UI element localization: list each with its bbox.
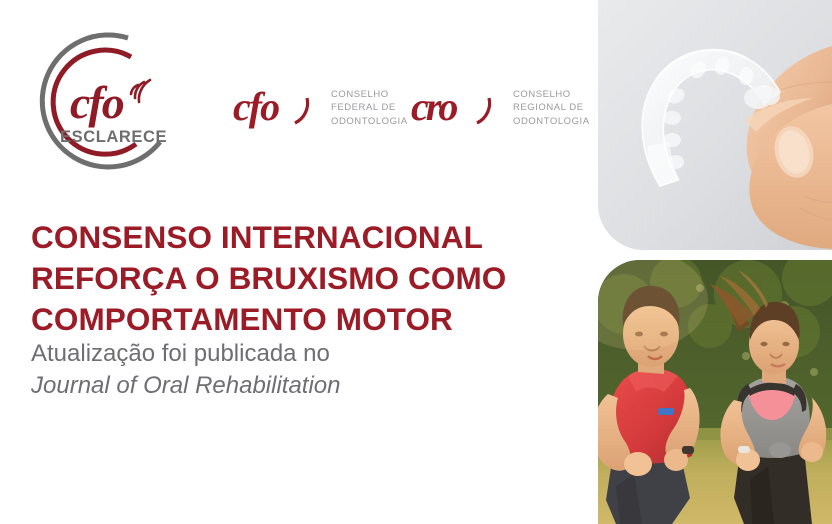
headline-line: CONSENSO INTERNACIONAL xyxy=(31,217,571,258)
cfo-federal-logo: cfo CONSELHO FEDERAL DE ODONTOLOGIA xyxy=(233,84,408,130)
esclarece-tagline: ESCLARECE xyxy=(60,128,167,146)
subtitle: Atualização foi publicada no Journal of … xyxy=(31,338,551,402)
svg-text:cfo: cfo xyxy=(70,77,124,128)
svg-text:cro: cro xyxy=(411,84,457,129)
svg-text:cfo: cfo xyxy=(233,84,279,129)
subtitle-line-1: Atualização foi publicada no xyxy=(31,338,551,370)
cro-regional-org-lines: CONSELHO REGIONAL DE ODONTOLOGIA xyxy=(513,87,590,128)
content-column: cfo ESCLARECE cfo xyxy=(0,0,598,524)
org-line: ODONTOLOGIA xyxy=(513,116,590,128)
photo-occlusal-splint xyxy=(598,0,832,250)
subtitle-line-2-journal: Journal of Oral Rehabilitation xyxy=(31,370,551,402)
org-line: FEDERAL DE xyxy=(331,102,408,114)
photo-runners xyxy=(598,260,832,524)
cfo-federal-org-lines: CONSELHO FEDERAL DE ODONTOLOGIA xyxy=(331,87,408,128)
org-line: CONSELHO xyxy=(331,89,408,101)
cro-regional-logo: cro CONSELHO REGIONAL DE ODONTOLOGIA xyxy=(411,84,590,130)
org-line: CONSELHO xyxy=(513,89,590,101)
org-line: REGIONAL DE xyxy=(513,102,590,114)
cfo-mark-icon: cfo xyxy=(233,84,321,130)
page-title: CONSENSO INTERNACIONAL REFORÇA O BRUXISM… xyxy=(31,217,571,340)
cfo-esclarece-logo: cfo ESCLARECE xyxy=(32,32,172,172)
org-line: ODONTOLOGIA xyxy=(331,116,408,128)
logo-row: cfo ESCLARECE cfo xyxy=(30,22,590,192)
headline-line: COMPORTAMENTO MOTOR xyxy=(31,299,571,340)
headline-line: REFORÇA O BRUXISMO COMO xyxy=(31,258,571,299)
cro-mark-icon: cro xyxy=(411,84,503,130)
promo-card: cfo ESCLARECE cfo xyxy=(0,0,832,524)
